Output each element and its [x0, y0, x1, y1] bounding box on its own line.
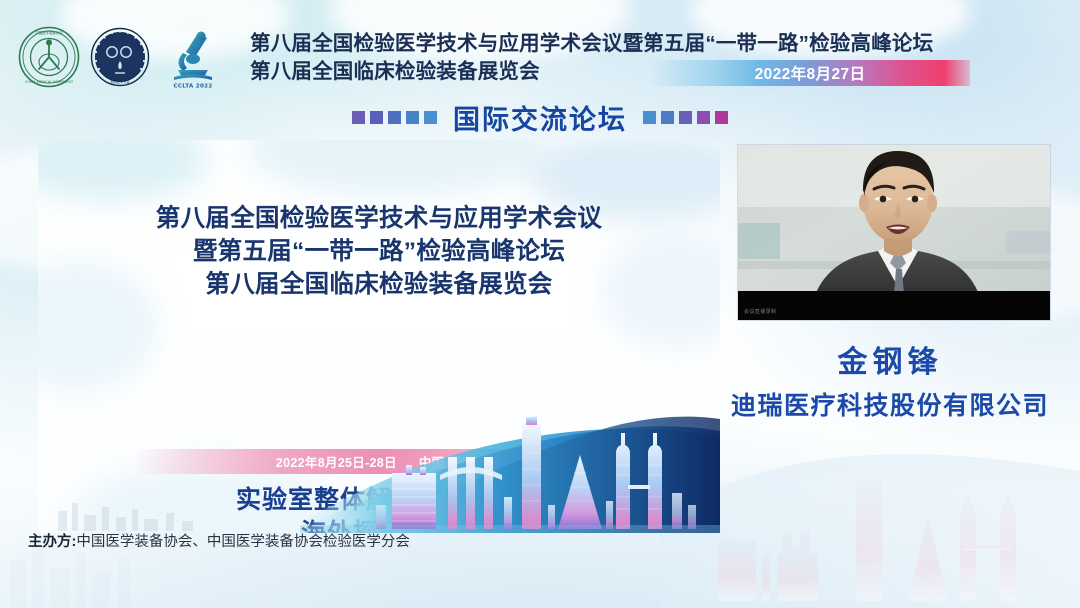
video-watermark: 会议直播录制 — [744, 308, 776, 315]
header-title-line1: 第八届全国检验医学技术与应用学术会议暨第五届“一带一路”检验高峰论坛 — [250, 30, 970, 58]
decor-square — [697, 111, 710, 124]
decor-square — [661, 111, 674, 124]
slide-title-line: 第八届全国检验医学技术与应用学术会议 — [38, 202, 720, 235]
decor-square — [643, 111, 656, 124]
speaker-company: 迪瑞医疗科技股份有限公司 — [700, 387, 1080, 425]
forum-title-row: 国际交流论坛 — [0, 98, 1080, 137]
cclta-seal-logo: 检验医学分会 — [90, 27, 150, 87]
slide-wave-skyline-graphic — [300, 401, 720, 533]
presentation-slide[interactable]: 第八届全国检验医学技术与应用学术会议 暨第五届“一带一路”检验高峰论坛 第八届全… — [38, 140, 720, 533]
forum-title: 国际交流论坛 — [453, 98, 627, 137]
speaker-video-pane[interactable]: 会议直播录制 — [738, 145, 1050, 320]
decor-squares-right — [643, 111, 728, 124]
header-date-badge: 2022年8月27日 — [650, 60, 970, 86]
decor-squares-left — [352, 111, 437, 124]
speaker-name: 金钢锋 — [700, 343, 1080, 383]
footer-caption-label: 主办方: — [28, 534, 76, 550]
header-date-badge-text: 2022年8月27日 — [755, 62, 866, 84]
background-skyline-watermark — [660, 433, 1080, 608]
decor-square — [388, 111, 401, 124]
svg-text:CCLTA 2022: CCLTA 2022 — [173, 84, 212, 89]
page-background: 中国医学装备协会 CHINA MEDICAL EQUIPMENT — [0, 0, 1080, 608]
slide-title-block: 第八届全国检验医学技术与应用学术会议 暨第五届“一带一路”检验高峰论坛 第八届全… — [38, 202, 720, 301]
decor-square — [679, 111, 692, 124]
cclta-microscope-logo: CCLTA 2022 — [160, 26, 226, 88]
decor-square — [406, 111, 419, 124]
slide-distant-skyline — [38, 485, 338, 531]
decor-square — [424, 111, 437, 124]
slide-title-line: 第八届全国临床检验装备展览会 — [38, 268, 720, 301]
speaker-webcam-feed — [738, 145, 1050, 320]
footer-caption-text: 中国医学装备协会、中国医学装备协会检验医学分会 — [76, 534, 410, 550]
slide-title-line: 暨第五届“一带一路”检验高峰论坛 — [38, 235, 720, 268]
svg-text:中国医学装备协会: 中国医学装备协会 — [35, 30, 63, 35]
cmea-seal-logo: 中国医学装备协会 CHINA MEDICAL EQUIPMENT — [18, 26, 80, 88]
speaker-info-block: 金钢锋 迪瑞医疗科技股份有限公司 — [700, 343, 1080, 425]
page-header: 中国医学装备协会 CHINA MEDICAL EQUIPMENT — [0, 0, 1080, 140]
footer-caption: 主办方:中国医学装备协会、中国医学装备协会检验医学分会 — [28, 531, 668, 553]
svg-text:检验医学分会: 检验医学分会 — [110, 79, 130, 84]
decor-square — [352, 111, 365, 124]
logo-group: 中国医学装备协会 CHINA MEDICAL EQUIPMENT — [18, 26, 226, 88]
svg-text:CHINA MEDICAL EQUIPMENT: CHINA MEDICAL EQUIPMENT — [25, 80, 74, 84]
decor-square — [370, 111, 383, 124]
decor-square — [715, 111, 728, 124]
